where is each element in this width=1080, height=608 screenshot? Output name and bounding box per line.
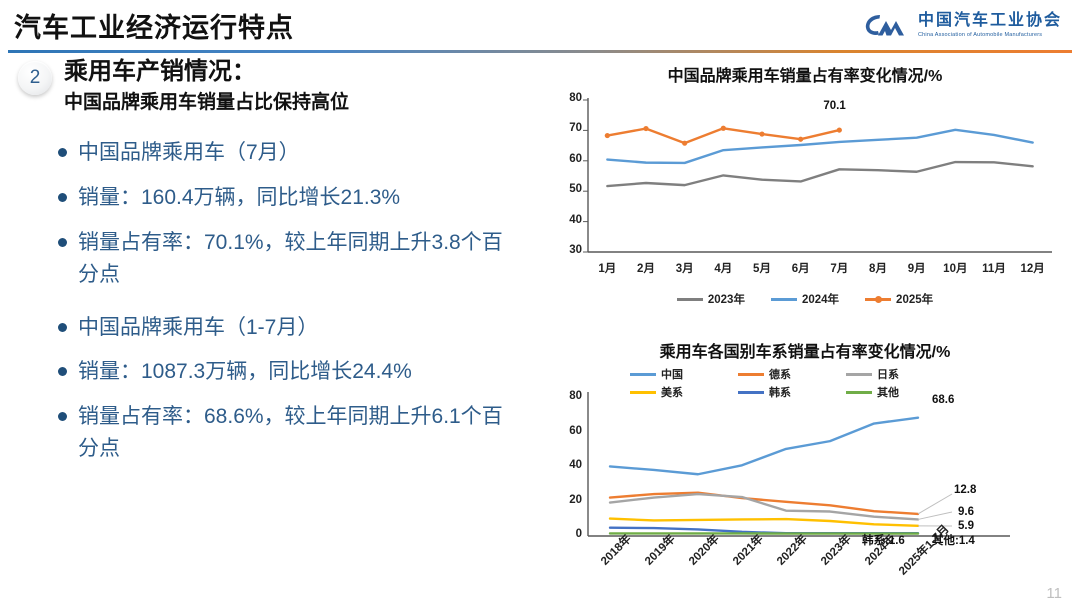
data-label: 68.6	[932, 394, 954, 406]
legend-item-2024年[interactable]: 2024年	[771, 291, 839, 307]
y-axis-tick-label: 40	[556, 459, 582, 471]
y-axis-tick-label: 60	[558, 153, 582, 165]
legend-swatch	[630, 373, 656, 376]
list-item: 销量：160.4万辆，同比增长21.3%	[58, 182, 530, 215]
x-axis-tick-label: 10月	[937, 260, 973, 276]
data-point	[837, 127, 842, 132]
x-axis-tick-label: 12月	[1015, 260, 1051, 276]
legend-item-2025年[interactable]: 2025年	[865, 291, 933, 307]
x-axis-tick-label: 7月	[821, 260, 857, 276]
series-line-2023年	[607, 162, 1032, 186]
x-axis-tick-label: 4月	[705, 260, 741, 276]
chart-brand-origin-share: 乘用车各国别车系销量占有率变化情况/% 中国德系日系美系韩系其他 0204060…	[540, 338, 1070, 603]
bullet-group-july: 中国品牌乘用车（7月） 销量：160.4万辆，同比增长21.3% 销量占有率：7…	[58, 137, 530, 291]
section-number-badge: 2	[18, 61, 52, 95]
legend-swatch	[677, 298, 703, 301]
x-axis-tick-label: 3月	[667, 260, 703, 276]
chart-title: 中国品牌乘用车销量占有率变化情况/%	[540, 62, 1070, 86]
legend-label: 中国	[661, 366, 683, 382]
section-subtitle: 中国品牌乘用车销量占比保持高位	[64, 90, 349, 116]
x-axis-tick-label: 6月	[783, 260, 819, 276]
y-axis-tick-label: 80	[556, 390, 582, 402]
series-line-中国	[610, 418, 918, 475]
legend-label: 韩系	[769, 384, 791, 400]
chart-legend: 中国德系日系美系韩系其他	[630, 366, 954, 400]
legend-swatch	[738, 391, 764, 394]
series-line-日系	[610, 494, 918, 519]
legend-label: 日系	[877, 366, 899, 382]
data-label: 韩系:1.6	[862, 532, 905, 548]
page-title: 汽车工业经济运行特点	[14, 6, 294, 45]
list-item: 销量：1087.3万辆，同比增长24.4%	[58, 356, 530, 389]
list-item: 中国品牌乘用车（7月）	[58, 137, 530, 170]
bullet-text: 中国品牌乘用车（1-7月）	[78, 312, 318, 345]
data-label: 12.8	[954, 484, 976, 496]
legend-item-美系[interactable]: 美系	[630, 384, 738, 400]
slide-root: 汽车工业经济运行特点 中国汽车工业协会 China Association of…	[0, 0, 1080, 608]
bullet-text: 销量：1087.3万辆，同比增长24.4%	[78, 356, 412, 389]
data-point	[721, 126, 726, 131]
chart-plot-area: 中国德系日系美系韩系其他 0204060802018年2019年2020年202…	[540, 364, 1070, 604]
data-label: 70.1	[823, 100, 845, 112]
legend-swatch	[771, 298, 797, 301]
list-item: 销量占有率：70.1%，较上年同期上升3.8个百分点	[58, 227, 530, 292]
caam-logo: 中国汽车工业协会 China Association of Automobile…	[863, 10, 1062, 40]
x-axis-tick-label: 5月	[744, 260, 780, 276]
y-axis-tick-label: 60	[556, 425, 582, 437]
legend-swatch	[630, 391, 656, 394]
legend-marker-icon	[875, 296, 882, 303]
legend-label: 2024年	[802, 291, 839, 307]
data-label: 9.6	[958, 506, 974, 518]
bullet-dot-icon	[58, 367, 67, 376]
bullet-dot-icon	[58, 238, 67, 247]
section-title-group: 乘用车产销情况： 中国品牌乘用车销量占比保持高位	[64, 58, 349, 115]
y-axis-tick-label: 0	[556, 528, 582, 540]
y-axis-tick-label: 20	[556, 494, 582, 506]
bullet-text: 销量：160.4万辆，同比增长21.3%	[78, 182, 400, 215]
caam-logo-icon	[863, 10, 909, 40]
chart-title: 乘用车各国别车系销量占有率变化情况/%	[540, 338, 1070, 362]
data-point	[759, 131, 764, 136]
legend-swatch	[846, 373, 872, 376]
y-axis-tick-label: 50	[558, 183, 582, 195]
legend-label: 2023年	[708, 291, 745, 307]
legend-item-中国[interactable]: 中国	[630, 366, 738, 382]
x-axis-tick-label: 8月	[860, 260, 896, 276]
x-axis-tick-label: 1月	[589, 260, 625, 276]
legend-item-2023年[interactable]: 2023年	[677, 291, 745, 307]
bullet-dot-icon	[58, 412, 67, 421]
y-axis-tick-label: 70	[558, 122, 582, 134]
bullet-dot-icon	[58, 323, 67, 332]
chart-svg	[540, 92, 1070, 287]
legend-swatch	[846, 391, 872, 394]
bullet-dot-icon	[58, 148, 67, 157]
y-axis-tick-label: 80	[558, 92, 582, 104]
legend-label: 德系	[769, 366, 791, 382]
logo-text-en: China Association of Automobile Manufact…	[918, 32, 1062, 38]
list-item: 中国品牌乘用车（1-7月）	[58, 312, 530, 345]
legend-label: 其他	[877, 384, 899, 400]
legend-swatch	[738, 373, 764, 376]
y-axis-tick-label: 40	[558, 214, 582, 226]
page-number: 11	[1046, 585, 1062, 602]
header-divider	[8, 50, 1072, 53]
chart-plot-area: 3040506070801月2月3月4月5月6月7月8月9月10月11月12月7…	[540, 92, 1070, 287]
x-axis-tick-label: 11月	[976, 260, 1012, 276]
chart-legend: 2023年2024年2025年	[540, 291, 1070, 307]
left-content-column: 2 乘用车产销情况： 中国品牌乘用车销量占比保持高位 中国品牌乘用车（7月） 销…	[0, 58, 530, 598]
bullet-list: 中国品牌乘用车（7月） 销量：160.4万辆，同比增长21.3% 销量占有率：7…	[0, 137, 530, 465]
data-label: 5.9	[958, 520, 974, 532]
bullet-dot-icon	[58, 193, 67, 202]
legend-item-韩系[interactable]: 韩系	[738, 384, 846, 400]
data-point	[605, 133, 610, 138]
section-header: 2 乘用车产销情况： 中国品牌乘用车销量占比保持高位	[0, 58, 530, 115]
data-label: 其他:1.4	[932, 532, 975, 548]
logo-text-cn: 中国汽车工业协会	[918, 12, 1062, 30]
data-point	[682, 141, 687, 146]
data-point	[643, 126, 648, 131]
bullet-text: 销量占有率：70.1%，较上年同期上升3.8个百分点	[78, 227, 508, 292]
bullet-text: 销量占有率：68.6%，较上年同期上升6.1个百分点	[78, 401, 508, 466]
legend-item-日系[interactable]: 日系	[846, 366, 954, 382]
x-axis-tick-label: 2月	[628, 260, 664, 276]
legend-label: 美系	[661, 384, 683, 400]
chart-china-brand-share: 中国品牌乘用车销量占有率变化情况/% 3040506070801月2月3月4月5…	[540, 62, 1070, 317]
bullet-text: 中国品牌乘用车（7月）	[78, 137, 300, 170]
x-axis-tick-label: 9月	[899, 260, 935, 276]
legend-item-德系[interactable]: 德系	[738, 366, 846, 382]
y-axis-tick-label: 30	[558, 244, 582, 256]
list-item: 销量占有率：68.6%，较上年同期上升6.1个百分点	[58, 401, 530, 466]
data-point	[798, 137, 803, 142]
bullet-group-jan-jul: 中国品牌乘用车（1-7月） 销量：1087.3万辆，同比增长24.4% 销量占有…	[58, 312, 530, 466]
legend-label: 2025年	[896, 291, 933, 307]
section-title: 乘用车产销情况：	[64, 58, 349, 87]
